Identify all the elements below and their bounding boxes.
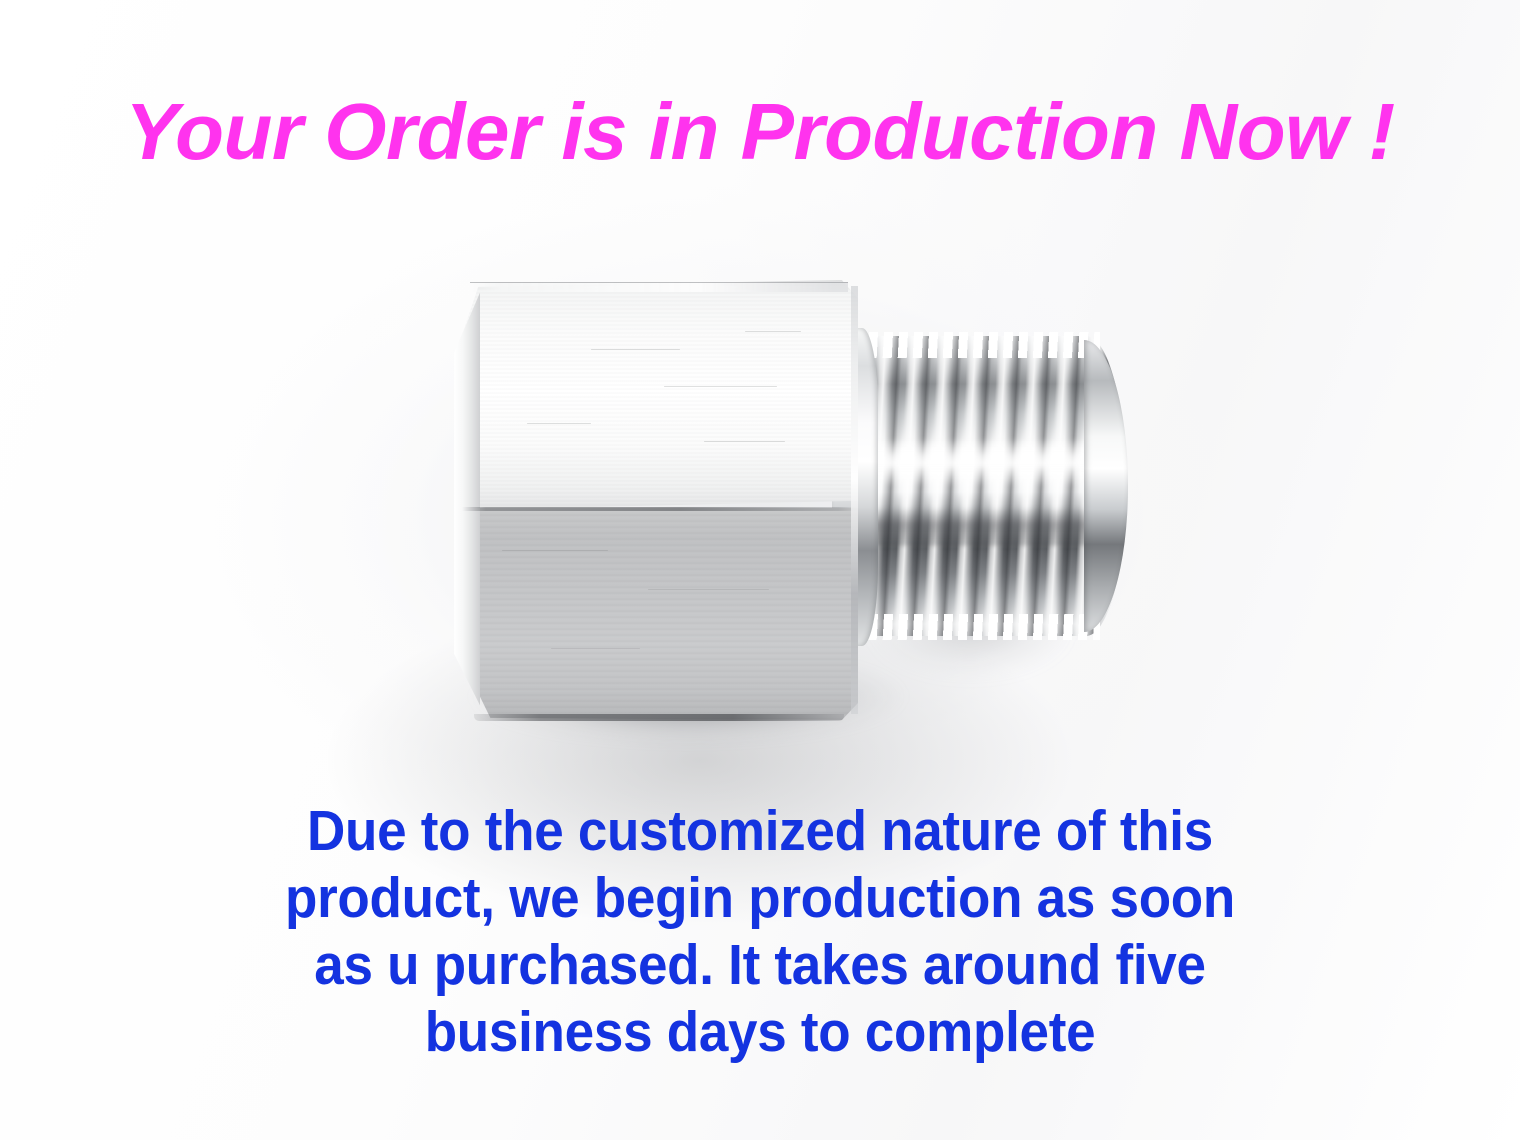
notice-line-1: Due to the customized nature of this: [53, 798, 1467, 865]
hex-bottom-edge-shadow: [474, 714, 844, 721]
hex-top-edge-highlight: [470, 282, 848, 292]
hex-left-chamfer-facet: [454, 284, 480, 714]
production-notice: Due to the customized nature of this pro…: [53, 798, 1467, 1066]
hex-facet-edge-line: [462, 507, 858, 511]
product-photo: [440, 262, 1140, 732]
notice-line-3: as u purchased. It takes around five: [53, 932, 1467, 999]
hex-upper-brushed-texture: [454, 280, 858, 510]
hex-right-edge-highlight: [851, 286, 858, 714]
male-thread-section: [850, 336, 1126, 636]
hex-upper-facet: [454, 280, 858, 510]
page-title: Your Order is in Production Now !: [0, 92, 1520, 172]
hex-body: [454, 280, 858, 720]
promo-image-canvas: Your Order is in Production Now !: [0, 0, 1520, 1140]
thread-crest-top-silhouette: [854, 332, 1100, 358]
notice-line-4: business days to complete: [53, 999, 1467, 1066]
notice-line-2: product, we begin production as soon: [53, 865, 1467, 932]
hex-lower-facet: [454, 508, 858, 720]
thread-crest-bottom-silhouette: [854, 614, 1100, 640]
hex-lower-brushed-texture: [454, 508, 858, 720]
